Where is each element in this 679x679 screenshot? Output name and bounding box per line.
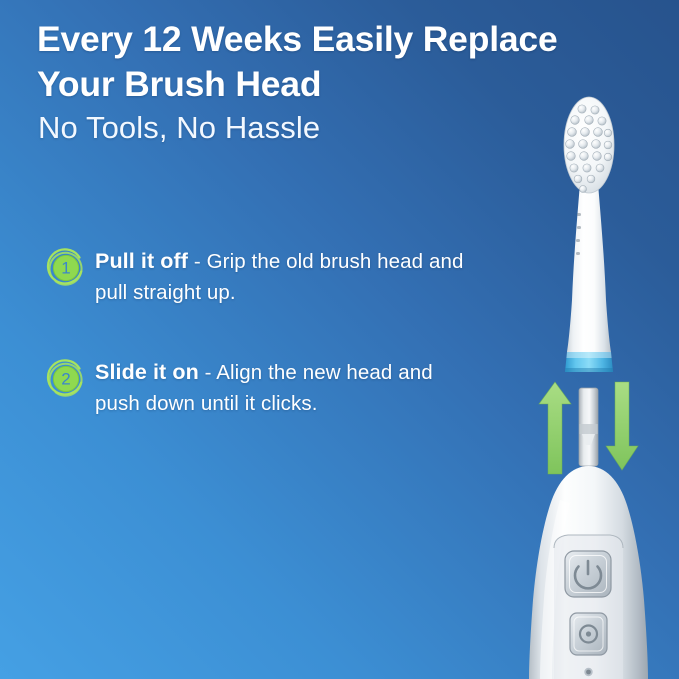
- step-lead-1: Pull it off: [95, 249, 188, 273]
- step-text-1: Pull it off - Grip the old brush head an…: [95, 246, 476, 308]
- led-indicator-dot: [584, 668, 592, 676]
- toothbrush-illustration: [498, 0, 679, 679]
- step-number-badge-1: 1: [46, 248, 86, 288]
- headline-line-1: Every 12 Weeks Easily Replace: [37, 19, 558, 59]
- subtitle: No Tools, No Hassle: [38, 108, 320, 148]
- step-item-1: 1 Pull it off - Grip the old brush head …: [46, 246, 476, 308]
- drive-shaft: [579, 388, 598, 466]
- down-arrow-icon: [606, 382, 638, 470]
- step-lead-2: Slide it on: [95, 360, 199, 384]
- step-item-2: 2 Slide it on - Align the new head and p…: [46, 357, 476, 419]
- step-text-2: Slide it on - Align the new head and pus…: [95, 357, 476, 419]
- up-arrow-icon: [539, 382, 571, 474]
- step-number-1: 1: [61, 259, 70, 278]
- step-dash-2: -: [199, 361, 216, 384]
- power-button[interactable]: [565, 551, 611, 597]
- brush-head: [564, 97, 614, 372]
- toothbrush-handle: [529, 466, 648, 679]
- step-number-badge-2: 2: [46, 359, 86, 399]
- step-dash-1: -: [188, 250, 207, 273]
- promo-banner: Every 12 Weeks Easily Replace Your Brush…: [0, 0, 679, 679]
- step-number-2: 2: [61, 370, 70, 389]
- mode-button[interactable]: [570, 613, 607, 655]
